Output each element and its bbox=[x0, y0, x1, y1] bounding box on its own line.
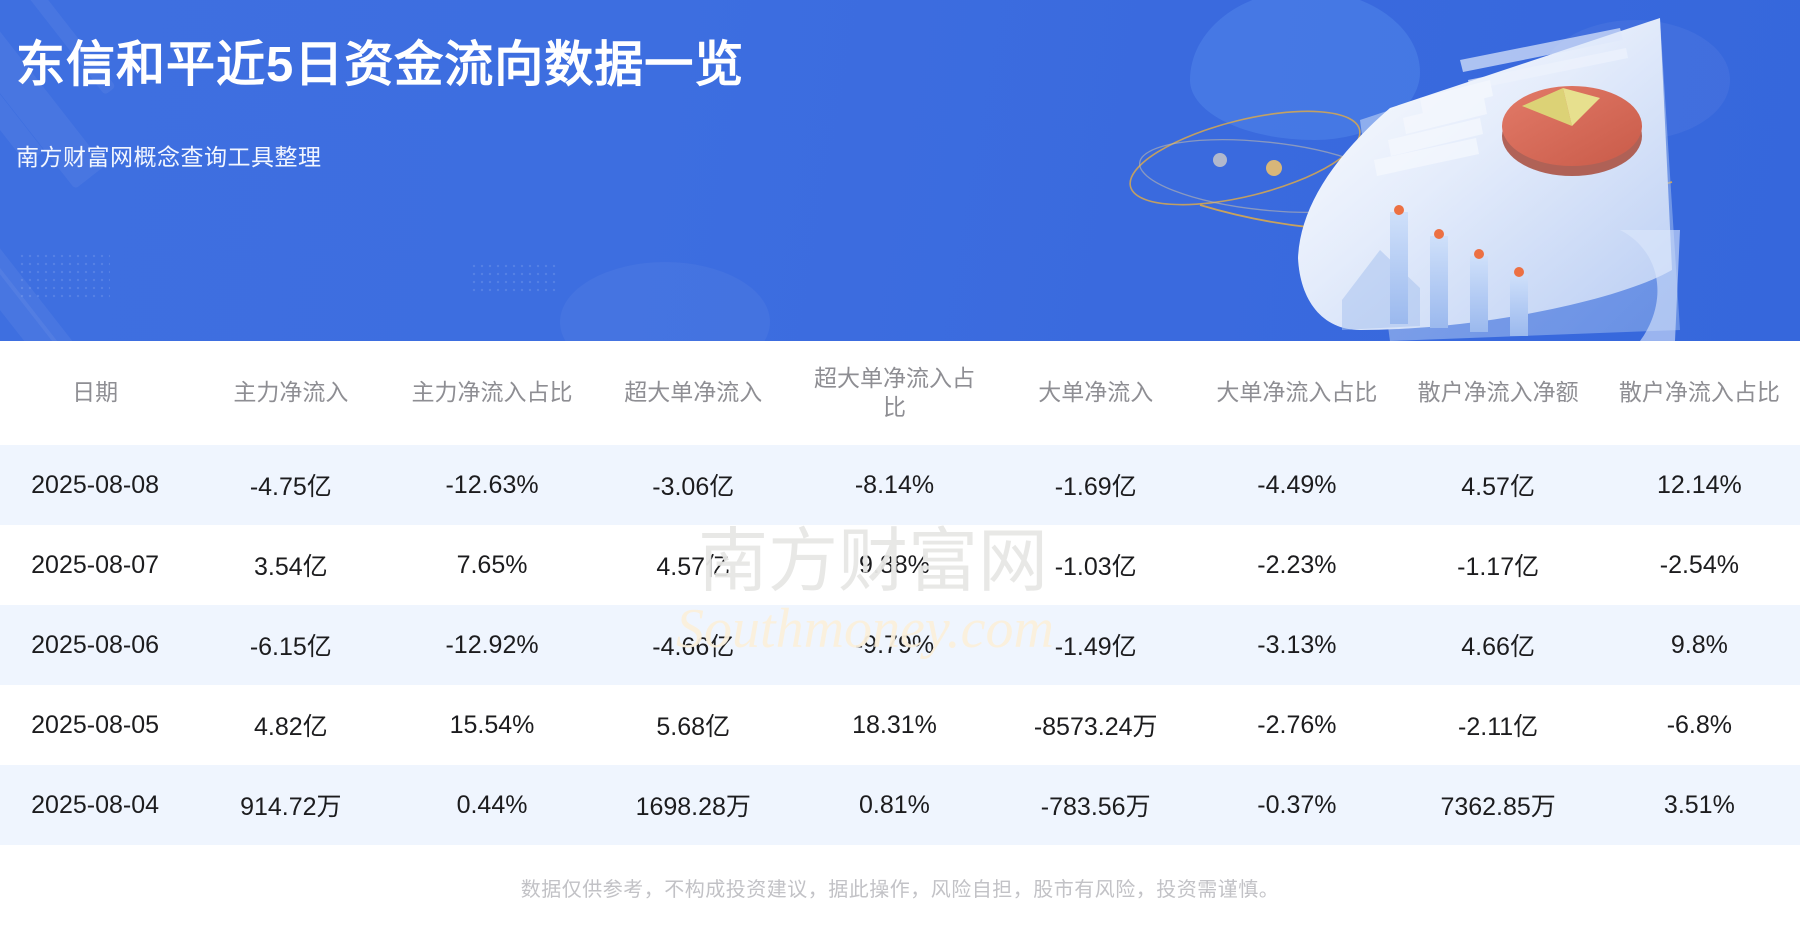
cell-xl-pct: 9.88% bbox=[794, 525, 995, 605]
cell-main-pct: 7.65% bbox=[391, 525, 592, 605]
cell-date: 2025-08-08 bbox=[0, 445, 190, 525]
column-header-xl-pct[interactable]: 超大单净流入占比 bbox=[794, 341, 995, 445]
table-body: 2025-08-08 -4.75亿 -12.63% -3.06亿 -8.14% … bbox=[0, 445, 1800, 845]
column-header-main-pct[interactable]: 主力净流入占比 bbox=[391, 341, 592, 445]
cell-lg-net: -1.49亿 bbox=[995, 605, 1196, 685]
banner-dot-texture bbox=[18, 252, 110, 300]
cell-xl-pct: 18.31% bbox=[794, 685, 995, 765]
cell-retail-pct: -2.54% bbox=[1599, 525, 1800, 605]
cell-retail-net: 4.66亿 bbox=[1398, 605, 1599, 685]
table-row: 2025-08-07 3.54亿 7.65% 4.57亿 9.88% -1.03… bbox=[0, 525, 1800, 605]
cell-main-net: 914.72万 bbox=[190, 765, 391, 845]
column-header-retail-net[interactable]: 散户净流入净额 bbox=[1398, 341, 1599, 445]
table-row: 2025-08-05 4.82亿 15.54% 5.68亿 18.31% -85… bbox=[0, 685, 1800, 765]
column-header-lg-net[interactable]: 大单净流入 bbox=[995, 341, 1196, 445]
cell-retail-pct: 12.14% bbox=[1599, 445, 1800, 525]
banner-streak-decoration bbox=[0, 185, 71, 341]
cell-retail-pct: -6.8% bbox=[1599, 685, 1800, 765]
cell-lg-pct: -0.37% bbox=[1196, 765, 1397, 845]
cell-main-net: 4.82亿 bbox=[190, 685, 391, 765]
column-header-retail-pct[interactable]: 散户净流入占比 bbox=[1599, 341, 1800, 445]
cell-xl-net: 5.68亿 bbox=[593, 685, 794, 765]
cell-xl-net: -4.66亿 bbox=[593, 605, 794, 685]
page-subtitle: 南方财富网概念查询工具整理 bbox=[16, 138, 744, 172]
cell-xl-net: -3.06亿 bbox=[593, 445, 794, 525]
banner-blob-decoration bbox=[560, 262, 770, 341]
cell-date: 2025-08-06 bbox=[0, 605, 190, 685]
cell-main-pct: 0.44% bbox=[391, 765, 592, 845]
fund-flow-table: 日期 主力净流入 主力净流入占比 超大单净流入 超大单净流入占比 大单净流入 大… bbox=[0, 341, 1800, 845]
table-row: 2025-08-08 -4.75亿 -12.63% -3.06亿 -8.14% … bbox=[0, 445, 1800, 525]
cell-retail-net: 4.57亿 bbox=[1398, 445, 1599, 525]
cell-main-net: -4.75亿 bbox=[190, 445, 391, 525]
cell-retail-net: -1.17亿 bbox=[1398, 525, 1599, 605]
cell-main-net: 3.54亿 bbox=[190, 525, 391, 605]
financial-report-chart-illustration bbox=[1060, 0, 1680, 341]
cell-date: 2025-08-07 bbox=[0, 525, 190, 605]
cell-xl-net: 4.57亿 bbox=[593, 525, 794, 605]
page-title: 东信和平近5日资金流向数据一览 bbox=[16, 36, 744, 96]
cell-xl-pct: -9.79% bbox=[794, 605, 995, 685]
cell-xl-net: 1698.28万 bbox=[593, 765, 794, 845]
column-header-xl-net[interactable]: 超大单净流入 bbox=[593, 341, 794, 445]
cell-xl-pct: 0.81% bbox=[794, 765, 995, 845]
cell-lg-pct: -2.76% bbox=[1196, 685, 1397, 765]
page-banner: 东信和平近5日资金流向数据一览 南方财富网概念查询工具整理 bbox=[0, 0, 1800, 341]
banner-text-group: 东信和平近5日资金流向数据一览 南方财富网概念查询工具整理 bbox=[16, 36, 744, 172]
cell-main-pct: -12.63% bbox=[391, 445, 592, 525]
cell-lg-pct: -3.13% bbox=[1196, 605, 1397, 685]
column-header-date[interactable]: 日期 bbox=[0, 341, 190, 445]
cell-retail-net: 7362.85万 bbox=[1398, 765, 1599, 845]
table-header: 日期 主力净流入 主力净流入占比 超大单净流入 超大单净流入占比 大单净流入 大… bbox=[0, 341, 1800, 445]
cell-lg-pct: -2.23% bbox=[1196, 525, 1397, 605]
cell-retail-net: -2.11亿 bbox=[1398, 685, 1599, 765]
cell-lg-net: -1.69亿 bbox=[995, 445, 1196, 525]
fund-flow-table-container: 南方财富网 Southmoney.com 日期 主力净流入 主力净流入占比 超大… bbox=[0, 341, 1800, 845]
cell-date: 2025-08-04 bbox=[0, 765, 190, 845]
table-row: 2025-08-04 914.72万 0.44% 1698.28万 0.81% … bbox=[0, 765, 1800, 845]
cell-retail-pct: 9.8% bbox=[1599, 605, 1800, 685]
cell-main-net: -6.15亿 bbox=[190, 605, 391, 685]
cell-xl-pct: -8.14% bbox=[794, 445, 995, 525]
table-header-row: 日期 主力净流入 主力净流入占比 超大单净流入 超大单净流入占比 大单净流入 大… bbox=[0, 341, 1800, 445]
disclaimer-note: 数据仅供参考，不构成投资建议，据此操作，风险自担，股市有风险，投资需谨慎。 bbox=[0, 845, 1800, 902]
column-header-main-net[interactable]: 主力净流入 bbox=[190, 341, 391, 445]
cell-lg-pct: -4.49% bbox=[1196, 445, 1397, 525]
cell-retail-pct: 3.51% bbox=[1599, 765, 1800, 845]
cell-date: 2025-08-05 bbox=[0, 685, 190, 765]
table-row: 2025-08-06 -6.15亿 -12.92% -4.66亿 -9.79% … bbox=[0, 605, 1800, 685]
banner-dot-texture bbox=[470, 262, 556, 296]
cell-lg-net: -8573.24万 bbox=[995, 685, 1196, 765]
column-header-lg-pct[interactable]: 大单净流入占比 bbox=[1196, 341, 1397, 445]
cell-lg-net: -1.03亿 bbox=[995, 525, 1196, 605]
cell-lg-net: -783.56万 bbox=[995, 765, 1196, 845]
cell-main-pct: -12.92% bbox=[391, 605, 592, 685]
cell-main-pct: 15.54% bbox=[391, 685, 592, 765]
banner-streak-decoration bbox=[0, 234, 100, 341]
